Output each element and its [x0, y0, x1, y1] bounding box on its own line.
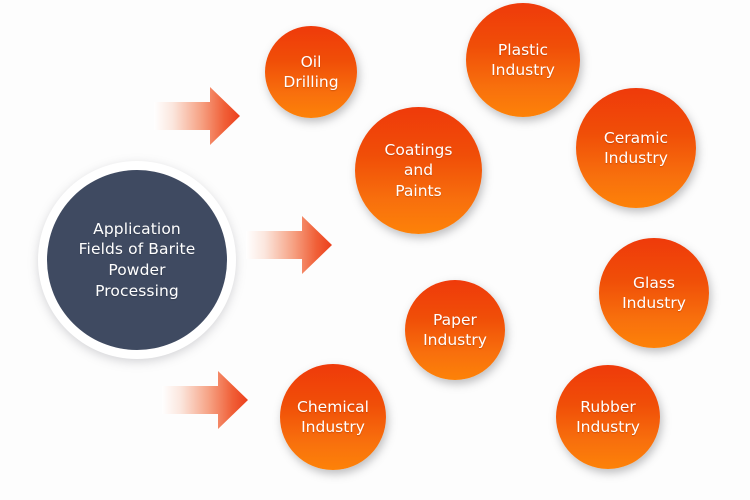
diagram-canvas: Application Fields of Barite Powder Proc…: [0, 0, 750, 500]
bubble-label-oil-drilling: Oil Drilling: [277, 52, 344, 92]
central-hub-label: Application Fields of Barite Powder Proc…: [65, 219, 210, 301]
arrow-middle: [244, 214, 334, 276]
arrow-bottom-icon: [160, 369, 250, 431]
central-hub-inner: Application Fields of Barite Powder Proc…: [47, 170, 227, 350]
bubble-ceramic-industry[interactable]: Ceramic Industry: [576, 88, 696, 208]
arrow-top: [152, 85, 242, 147]
arrow-top-icon: [152, 85, 242, 147]
arrow-bottom: [160, 369, 250, 431]
bubble-chemical-industry[interactable]: Chemical Industry: [280, 364, 386, 470]
bubble-label-rubber-industry: Rubber Industry: [570, 397, 646, 437]
bubble-label-ceramic-industry: Ceramic Industry: [598, 128, 674, 168]
bubble-rubber-industry[interactable]: Rubber Industry: [556, 365, 660, 469]
bubble-label-chemical-industry: Chemical Industry: [291, 397, 375, 437]
bubble-label-plastic-industry: Plastic Industry: [485, 40, 561, 80]
bubble-oil-drilling[interactable]: Oil Drilling: [265, 26, 357, 118]
bubble-plastic-industry[interactable]: Plastic Industry: [466, 3, 580, 117]
bubble-label-coatings-and-paints: Coatings and Paints: [379, 140, 459, 200]
bubble-label-paper-industry: Paper Industry: [417, 310, 493, 350]
bubble-label-glass-industry: Glass Industry: [616, 273, 692, 313]
bubble-glass-industry[interactable]: Glass Industry: [599, 238, 709, 348]
central-hub-circle[interactable]: Application Fields of Barite Powder Proc…: [38, 161, 236, 359]
arrow-middle-icon: [244, 214, 334, 276]
bubble-coatings-and-paints[interactable]: Coatings and Paints: [355, 107, 482, 234]
bubble-paper-industry[interactable]: Paper Industry: [405, 280, 505, 380]
